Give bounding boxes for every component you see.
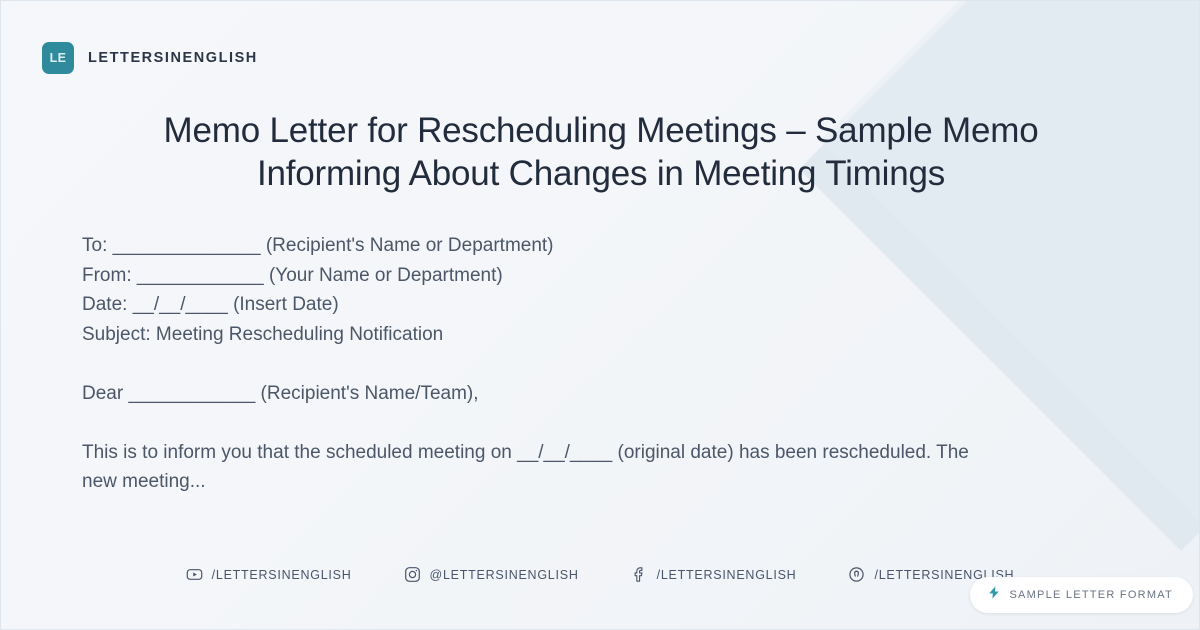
letter-body: To: ______________ (Recipient's Name or … <box>82 231 982 497</box>
instagram-icon <box>404 566 421 583</box>
social-link-youtube[interactable]: /LETTERSINENGLISH <box>186 566 352 583</box>
letter-subject-line: Subject: Meeting Rescheduling Notificati… <box>82 320 982 350</box>
pinterest-icon <box>848 566 865 583</box>
lightning-bolt-icon <box>987 585 1001 605</box>
youtube-icon <box>186 566 203 583</box>
status-badge[interactable]: SAMPLE LETTER FORMAT <box>970 577 1193 613</box>
social-handle-youtube: /LETTERSINENGLISH <box>212 568 352 582</box>
letter-to-line: To: ______________ (Recipient's Name or … <box>82 231 982 261</box>
letter-date-line: Date: __/__/____ (Insert Date) <box>82 290 982 320</box>
page-title: Memo Letter for Rescheduling Meetings – … <box>101 109 1101 195</box>
letter-paragraph: This is to inform you that the scheduled… <box>82 438 977 497</box>
social-link-facebook[interactable]: /LETTERSINENGLISH <box>631 566 797 583</box>
brand-mark-text: LE <box>50 51 67 65</box>
social-handle-facebook: /LETTERSINENGLISH <box>657 568 797 582</box>
letter-salutation: Dear ____________ (Recipient's Name/Team… <box>82 379 982 409</box>
social-handle-instagram: @LETTERSINENGLISH <box>430 568 579 582</box>
brand-logo[interactable]: LE LETTERSINENGLISH <box>42 42 258 74</box>
letter-spacer-1 <box>82 350 982 379</box>
brand-name-label: LETTERSINENGLISH <box>88 50 258 66</box>
letter-from-line: From: ____________ (Your Name or Departm… <box>82 261 982 291</box>
social-share-card: LE LETTERSINENGLISH Memo Letter for Resc… <box>0 0 1200 630</box>
status-badge-label: SAMPLE LETTER FORMAT <box>1009 589 1173 601</box>
brand-mark-icon: LE <box>42 42 74 74</box>
facebook-icon <box>631 566 648 583</box>
letter-spacer-2 <box>82 409 982 438</box>
social-link-instagram[interactable]: @LETTERSINENGLISH <box>404 566 579 583</box>
